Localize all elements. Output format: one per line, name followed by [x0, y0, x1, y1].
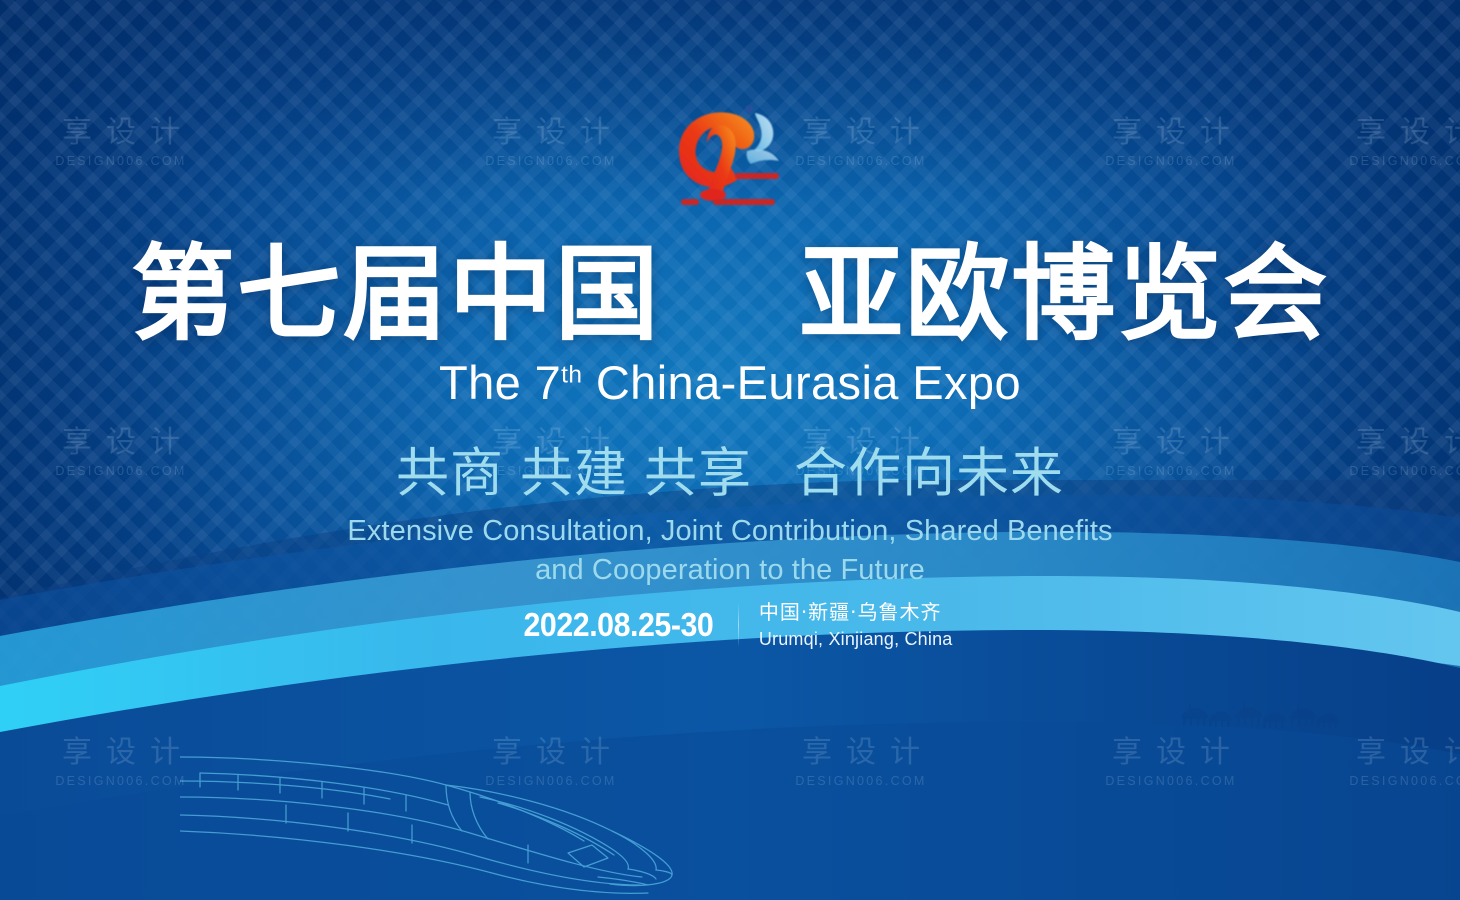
- expo-logo: [0, 95, 1460, 215]
- slogan-cn-1: 共商: [396, 443, 504, 504]
- event-location: 中国·新疆·乌鲁木齐 Urumqi, Xinjiang, China: [759, 600, 953, 651]
- title-en-ordinal: th: [561, 361, 582, 388]
- location-en: Urumqi, Xinjiang, China: [759, 628, 953, 651]
- title-en-suffix: China-Eurasia Expo: [582, 356, 1021, 409]
- china-eurasia-expo-logo-icon: [655, 95, 805, 215]
- event-details: 2022.08.25-30 中国·新疆·乌鲁木齐 Urumqi, Xinjian…: [0, 600, 1460, 651]
- poster-canvas: 享设计 DESIGN006.COM 享设计 DESIGN006.COM 享设计 …: [0, 0, 1460, 900]
- detail-divider: [738, 603, 739, 647]
- page-title: 第七届中国 亚欧博览会: [0, 240, 1460, 348]
- title-cn-part2: 亚欧博览会: [799, 233, 1329, 355]
- slogan-en-line2: and Cooperation to the Future: [0, 551, 1460, 590]
- slogan-en-line1: Extensive Consultation, Joint Contributi…: [0, 512, 1460, 551]
- title-cn-part1: 第七届中国: [131, 233, 661, 355]
- slogan-english: Extensive Consultation, Joint Contributi…: [0, 512, 1460, 589]
- event-date: 2022.08.25-30: [524, 606, 714, 644]
- title-en-prefix: The 7: [439, 356, 561, 409]
- slogan-cn-2: 共建: [520, 443, 628, 504]
- slogan-chinese: 共商共建共享合作向未来: [0, 431, 1460, 507]
- title-english: The 7th China-Eurasia Expo: [0, 355, 1460, 410]
- slogan-cn-4: 合作向未来: [794, 443, 1064, 504]
- slogan-cn-3: 共享: [644, 443, 752, 504]
- poster-content: 第七届中国 亚欧博览会 The 7th China-Eurasia Expo 共…: [0, 0, 1460, 900]
- location-cn: 中国·新疆·乌鲁木齐: [759, 600, 953, 625]
